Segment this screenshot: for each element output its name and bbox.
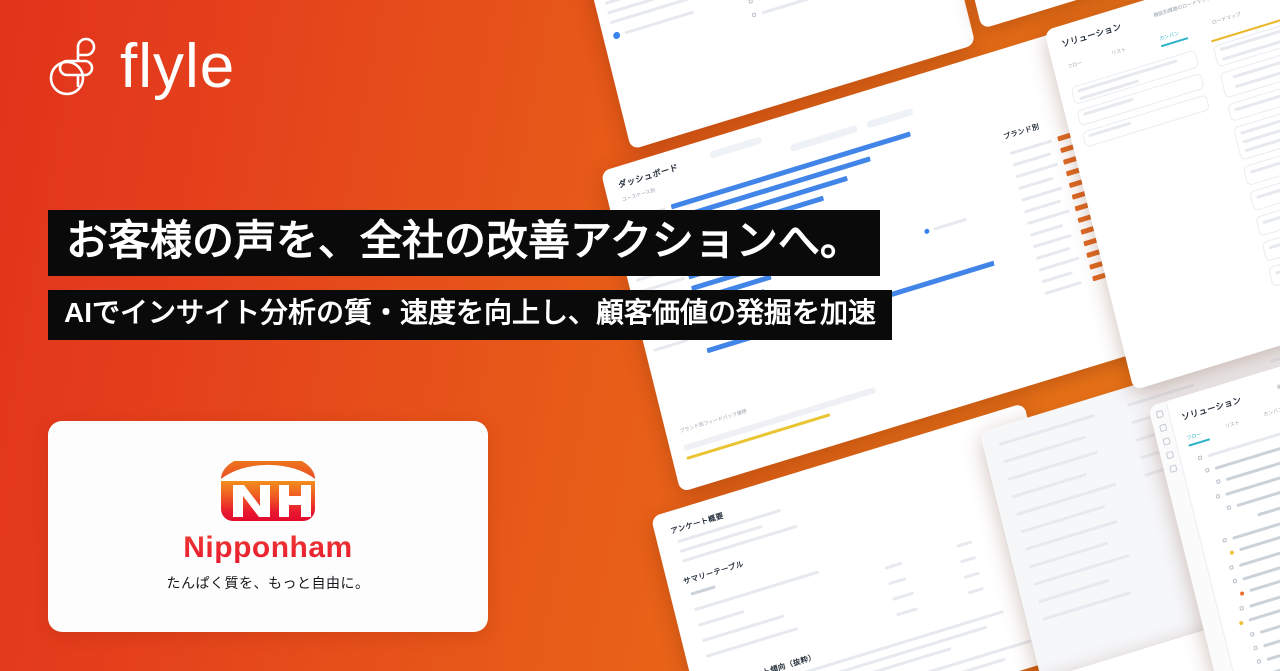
client-logo-card: Nipponham たんぱく質を、もっと自由に。 [48, 421, 488, 632]
panel-title-solution-1: ソリューション [1060, 20, 1122, 50]
client-name: Nipponham [183, 531, 353, 565]
hero-subheadline: AIでインサイト分析の質・速度を向上し、顧客価値の発掘を加速 [48, 290, 892, 340]
hero-headline: お客様の声を、全社の改善アクションへ。 [48, 210, 880, 276]
panel-title-solution-2: ソリューション [1180, 393, 1242, 423]
client-tagline: たんぱく質を、もっと自由に。 [167, 573, 370, 593]
brand-logo: flyle [48, 36, 235, 98]
nipponham-nh-monogram-icon [209, 461, 327, 525]
brand-name: flyle [120, 36, 235, 98]
flyle-logo-icon [48, 37, 104, 97]
panel-title-dashboard: ダッシュボード [617, 161, 679, 191]
